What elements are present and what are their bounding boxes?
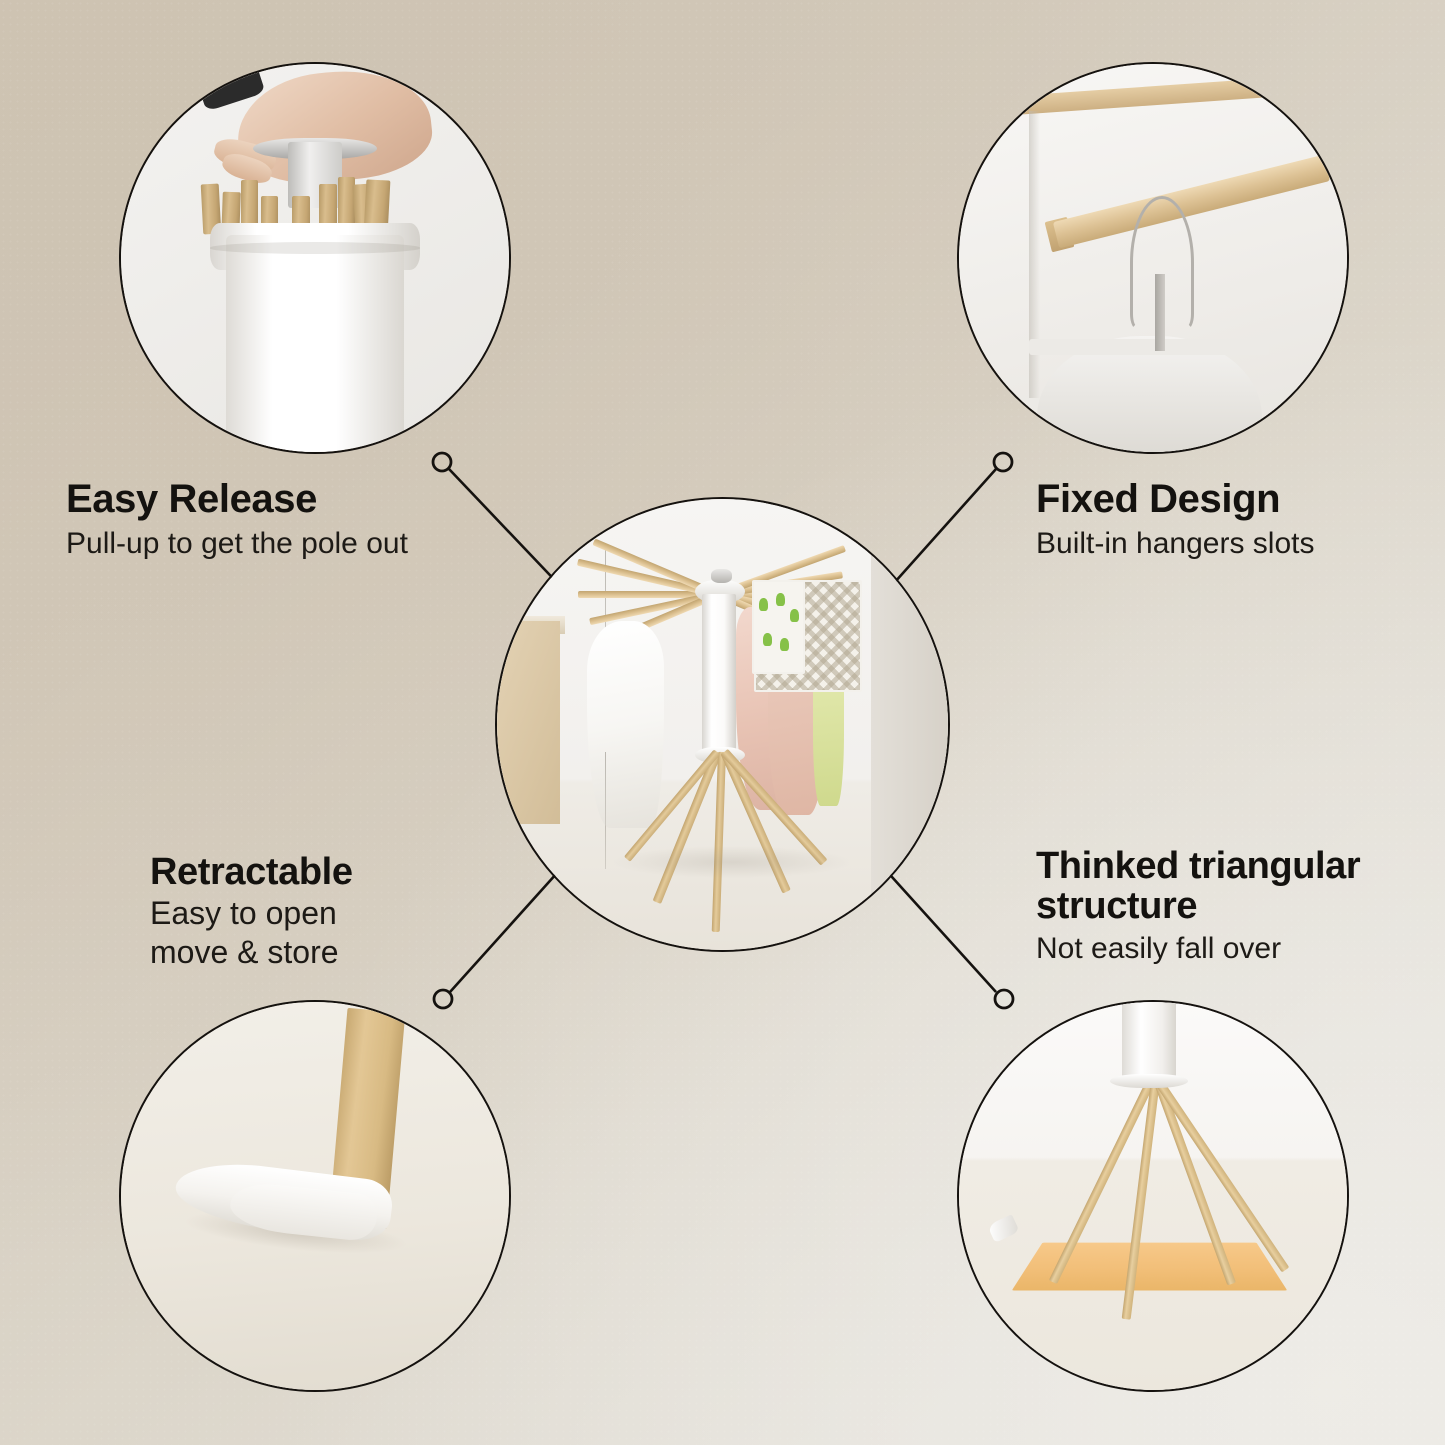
feature-label-triangular-structure: Thinked triangular structure Not easily … [1036, 846, 1360, 966]
feature-subtitle-fixed-design: Built-in hangers slots [1036, 526, 1314, 561]
connector-ring-fixed-design [994, 453, 1012, 471]
feature-subtitle-triangular-structure: Not easily fall over [1036, 931, 1360, 966]
feature-photo-fixed-design [957, 62, 1349, 454]
feature-label-fixed-design: Fixed Design Built-in hangers slots [1036, 478, 1314, 562]
feature-subtitle-easy-release: Pull-up to get the pole out [66, 526, 408, 561]
feature-title-triangular-structure: Thinked triangular structure [1036, 846, 1360, 927]
connector-ring-easy-release [433, 453, 451, 471]
feature-title-retractable: Retractable [150, 852, 353, 892]
feature-label-easy-release: Easy Release Pull-up to get the pole out [66, 478, 408, 562]
hero-photo-drying-rack [495, 497, 950, 952]
feature-photo-retractable [119, 1000, 511, 1392]
feature-subtitle-retractable: Easy to open move & store [150, 894, 353, 972]
feature-title-easy-release: Easy Release [66, 478, 408, 520]
feature-label-retractable: Retractable Easy to open move & store [150, 852, 353, 972]
feature-title-fixed-design: Fixed Design [1036, 478, 1314, 520]
feature-photo-easy-release [119, 62, 511, 454]
infographic-canvas: Easy Release Pull-up to get the pole out… [0, 0, 1445, 1445]
feature-photo-triangular-structure [957, 1000, 1349, 1392]
